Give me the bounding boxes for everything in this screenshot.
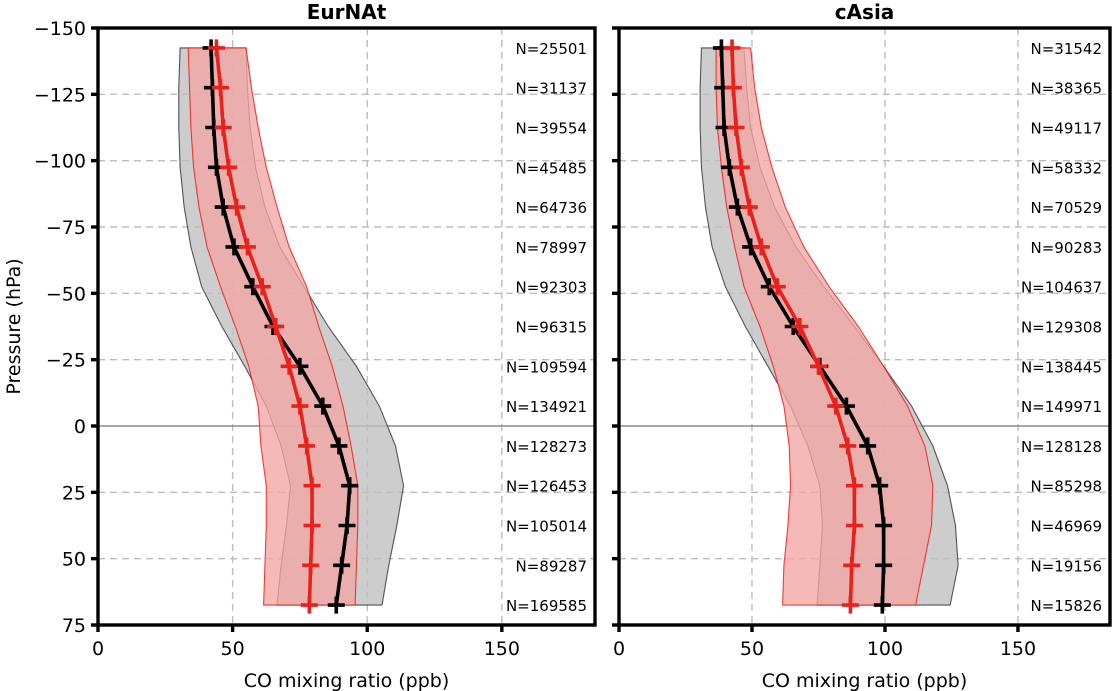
count-label: N=49117: [1030, 120, 1102, 138]
x-tick-label: 100: [867, 638, 903, 660]
x-axis-label: CO mixing ratio (ppb): [244, 670, 450, 691]
y-tick-label: −100: [34, 151, 86, 173]
count-label: N=70529: [1030, 199, 1102, 217]
y-tick-label: 50: [62, 549, 86, 571]
count-label: N=46969: [1030, 518, 1102, 536]
x-tick-label: 100: [349, 638, 385, 660]
count-label: N=109594: [506, 358, 587, 376]
count-label: N=45485: [515, 159, 587, 177]
count-label: N=169585: [506, 597, 587, 615]
count-label: N=90283: [1030, 239, 1102, 257]
count-label: N=134921: [506, 398, 587, 416]
count-label: N=89287: [515, 557, 587, 575]
count-label: N=31542: [1030, 40, 1102, 58]
count-label: N=105014: [506, 518, 587, 536]
count-label: N=38365: [1030, 80, 1102, 98]
figure-canvas: N=25501N=31137N=39554N=45485N=64736N=789…: [0, 0, 1118, 691]
count-label: N=39554: [515, 120, 587, 138]
x-tick-label: 0: [92, 638, 104, 660]
x-tick-label: 50: [221, 638, 245, 660]
y-tick-label: 25: [62, 482, 86, 504]
x-tick-label: 50: [740, 638, 764, 660]
count-label: N=92303: [515, 279, 587, 297]
panel-right: N=31542N=38365N=49117N=58332N=70529N=902…: [612, 0, 1110, 691]
y-axis-label: Pressure (hPa): [3, 258, 25, 394]
panel-left: N=25501N=31137N=39554N=45485N=64736N=789…: [34, 0, 595, 691]
count-label: N=31137: [515, 80, 587, 98]
y-tick-label: −25: [46, 350, 86, 372]
panel-title: cAsia: [835, 0, 895, 24]
count-label: N=25501: [515, 40, 587, 58]
y-tick-label: −150: [34, 18, 86, 40]
count-label: N=104637: [1021, 279, 1102, 297]
count-label: N=126453: [506, 478, 587, 496]
x-tick-label: 0: [613, 638, 625, 660]
count-label: N=128128: [1021, 438, 1102, 456]
count-label: N=96315: [515, 319, 587, 337]
count-label: N=138445: [1021, 358, 1102, 376]
panel-title: EurNAt: [307, 0, 387, 24]
y-tick-label: −125: [34, 84, 86, 106]
count-label: N=19156: [1030, 557, 1102, 575]
count-label: N=64736: [515, 199, 587, 217]
x-tick-label: 150: [1000, 638, 1036, 660]
count-label: N=58332: [1030, 159, 1102, 177]
count-label: N=15826: [1030, 597, 1102, 615]
count-label: N=129308: [1021, 319, 1102, 337]
co-profile-figure: N=25501N=31137N=39554N=45485N=64736N=789…: [0, 0, 1118, 691]
count-label: N=149971: [1021, 398, 1102, 416]
y-tick-label: 75: [62, 615, 86, 637]
y-tick-label: −50: [46, 283, 86, 305]
count-label: N=78997: [515, 239, 587, 257]
y-tick-label: 0: [74, 416, 86, 438]
count-label: N=128273: [506, 438, 587, 456]
count-label: N=85298: [1030, 478, 1102, 496]
x-axis-label: CO mixing ratio (ppb): [762, 670, 968, 691]
x-tick-label: 150: [484, 638, 520, 660]
y-tick-label: −75: [46, 217, 86, 239]
